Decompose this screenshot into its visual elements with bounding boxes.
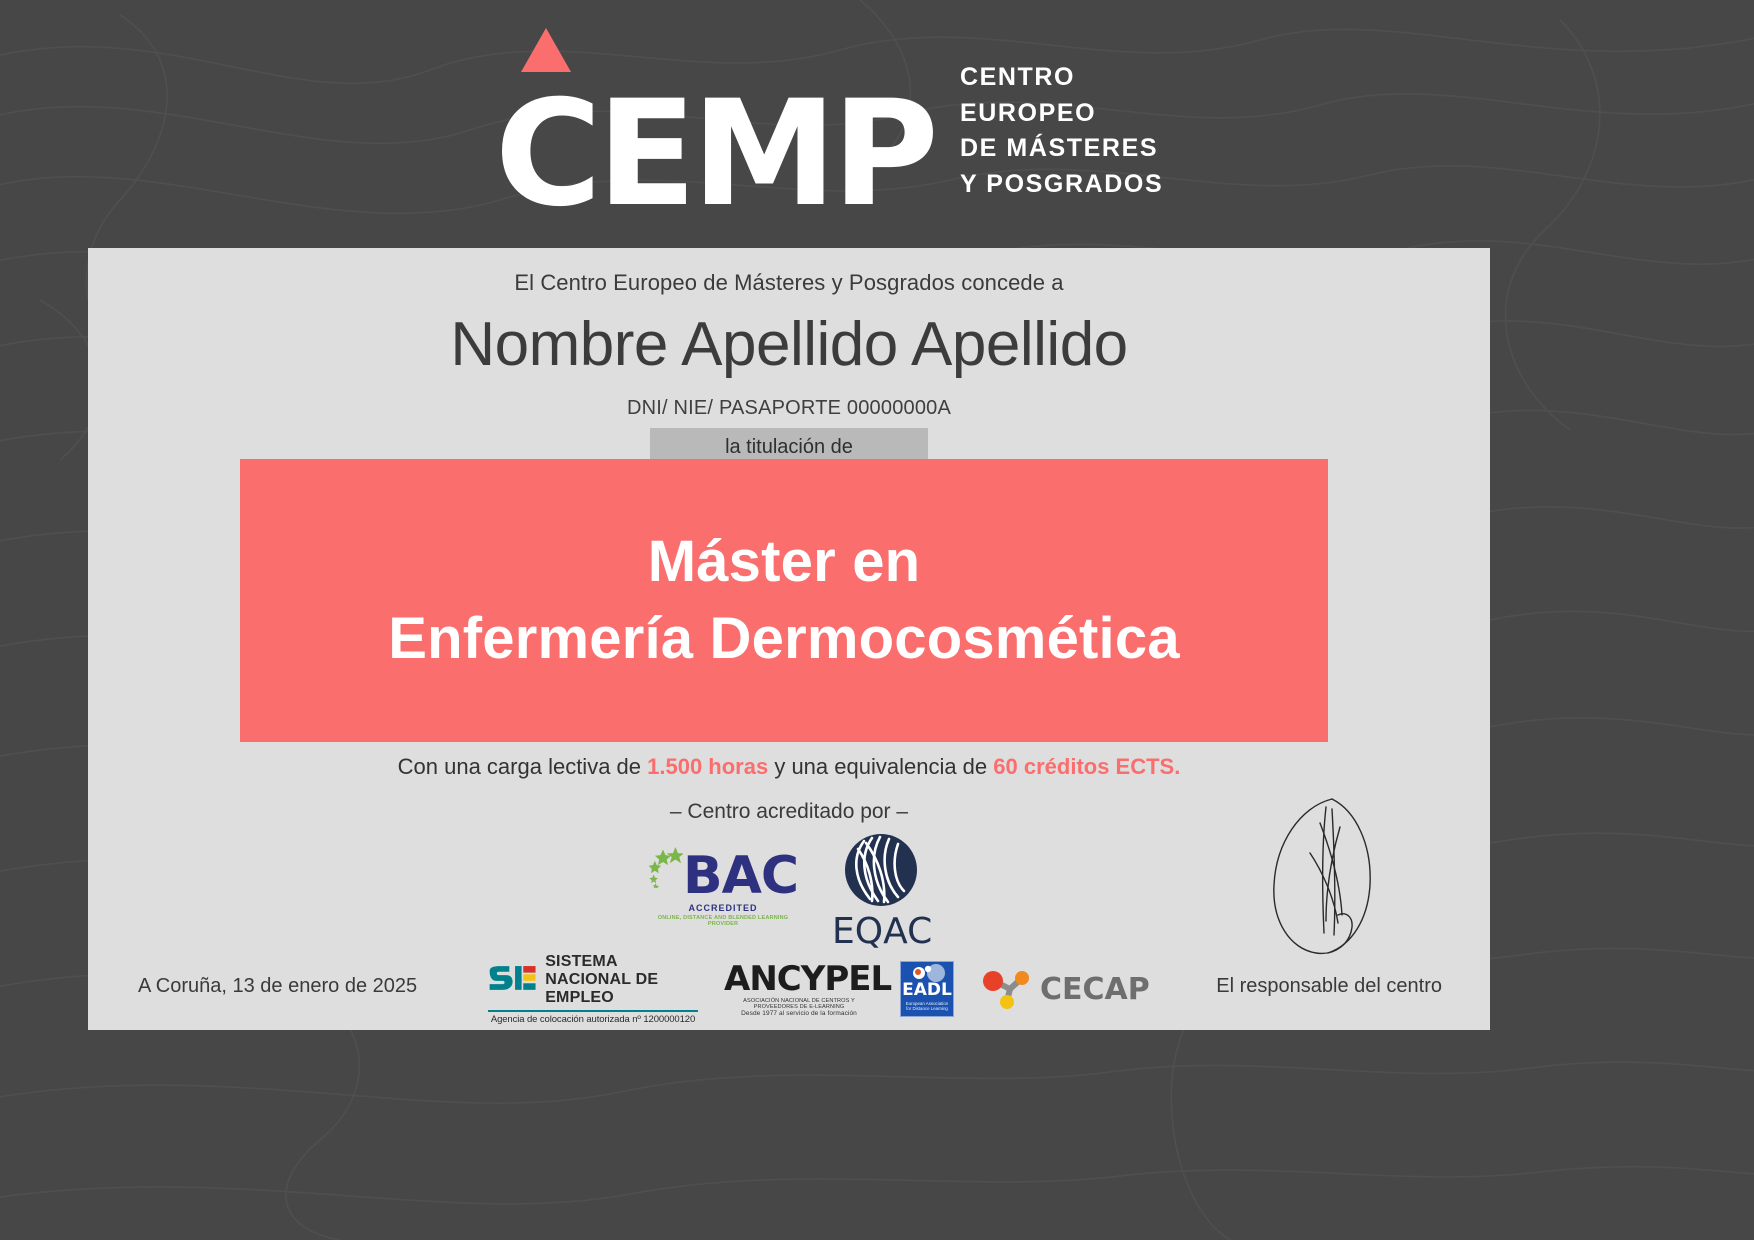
ancypel-subtitle-line-2: Desde 1977 al servicio de la formación: [724, 1010, 874, 1017]
sne-title-line-1: SISTEMA: [545, 953, 698, 971]
eqac-logo-icon: EQAC: [832, 833, 930, 950]
certificate-card: El Centro Europeo de Másteres y Posgrado…: [88, 248, 1490, 1030]
logo-wordmark: CEMP: [495, 92, 934, 218]
eadl-circles-icon: [902, 963, 954, 983]
brand-header: CEMP CENTRO EUROPEO DE MÁSTERES Y POSGRA…: [0, 0, 1754, 278]
cecap-wordmark: CECAP: [1040, 972, 1150, 1007]
sne-logo-icon: SISTEMA NACIONAL DE EMPLEO Agencia de co…: [488, 953, 698, 1025]
ancypel-logo-icon: ANCYPEL ASOCIACIÓN NACIONAL DE CENTROS Y…: [724, 962, 874, 1017]
degree-title-line-2: Enfermería Dermocosmética: [388, 601, 1180, 678]
ancypel-subtitle-line-1: ASOCIACIÓN NACIONAL DE CENTROS Y PROVEED…: [724, 998, 874, 1010]
certificate-page: CEMP CENTRO EUROPEO DE MÁSTERES Y POSGRA…: [0, 0, 1754, 1240]
workload-hours: 1.500 horas: [647, 754, 768, 779]
degree-title-band: Máster en Enfermería Dermocosmética: [240, 459, 1328, 742]
eadl-logo-icon: EADL European Association for Distance L…: [900, 961, 954, 1017]
bac-subtitle: ONLINE, DISTANCE AND BLENDED LEARNING PR…: [648, 915, 798, 927]
sne-mark-icon: [488, 961, 537, 999]
eqac-globe-icon: [844, 833, 918, 907]
bac-wordmark: BAC: [683, 852, 798, 901]
eadl-subtitle-line-2: for Distance Learning: [901, 1006, 953, 1011]
eqac-wordmark: EQAC: [832, 914, 930, 950]
workload-middle: y una equivalencia de: [768, 754, 993, 779]
logo-tagline-line-2: EUROPEO: [960, 96, 1163, 132]
bac-logo-icon: BAC ACCREDITED ONLINE, DISTANCE AND BLEN…: [648, 833, 798, 927]
logo-tagline-line-4: Y POSGRADOS: [960, 167, 1163, 203]
eadl-wordmark: EADL: [901, 982, 953, 999]
workload-prefix: Con una carga lectiva de: [398, 754, 648, 779]
workload-credits: 60 créditos ECTS.: [993, 754, 1180, 779]
degree-title-line-1: Máster en: [648, 524, 921, 601]
awarded-by-line: El Centro Europeo de Másteres y Posgrado…: [88, 248, 1490, 296]
logo-mark: CEMP: [495, 92, 934, 218]
issue-date: A Coruña, 13 de enero de 2025: [138, 975, 417, 998]
sne-divider: [488, 1010, 698, 1012]
cecap-molecule-icon: [980, 967, 1032, 1011]
student-name: Nombre Apellido Apellido: [88, 312, 1490, 377]
identification-line: DNI/ NIE/ PASAPORTE 00000000A: [88, 397, 1490, 420]
logo-tagline: CENTRO EUROPEO DE MÁSTERES Y POSGRADOS: [960, 60, 1163, 218]
sne-subtitle: Agencia de colocación autorizada nº 1200…: [488, 1014, 698, 1025]
ancypel-wordmark: ANCYPEL: [724, 962, 874, 996]
signatory-label: El responsable del centro: [1216, 975, 1442, 998]
triangle-accent-icon: [521, 28, 571, 72]
sne-title-line-2: NACIONAL DE EMPLEO: [545, 971, 698, 1007]
partner-logos: SISTEMA NACIONAL DE EMPLEO Agencia de co…: [488, 954, 1218, 1024]
workload-line: Con una carga lectiva de 1.500 horas y u…: [88, 754, 1490, 780]
bac-stars-icon: [648, 833, 683, 901]
logo-tagline-line-1: CENTRO: [960, 60, 1163, 96]
logo-tagline-line-3: DE MÁSTERES: [960, 131, 1163, 167]
cemp-logo: CEMP CENTRO EUROPEO DE MÁSTERES Y POSGRA…: [495, 60, 1163, 218]
cecap-logo-icon: CECAP: [980, 967, 1150, 1011]
handwritten-signature-icon: [1260, 793, 1390, 963]
